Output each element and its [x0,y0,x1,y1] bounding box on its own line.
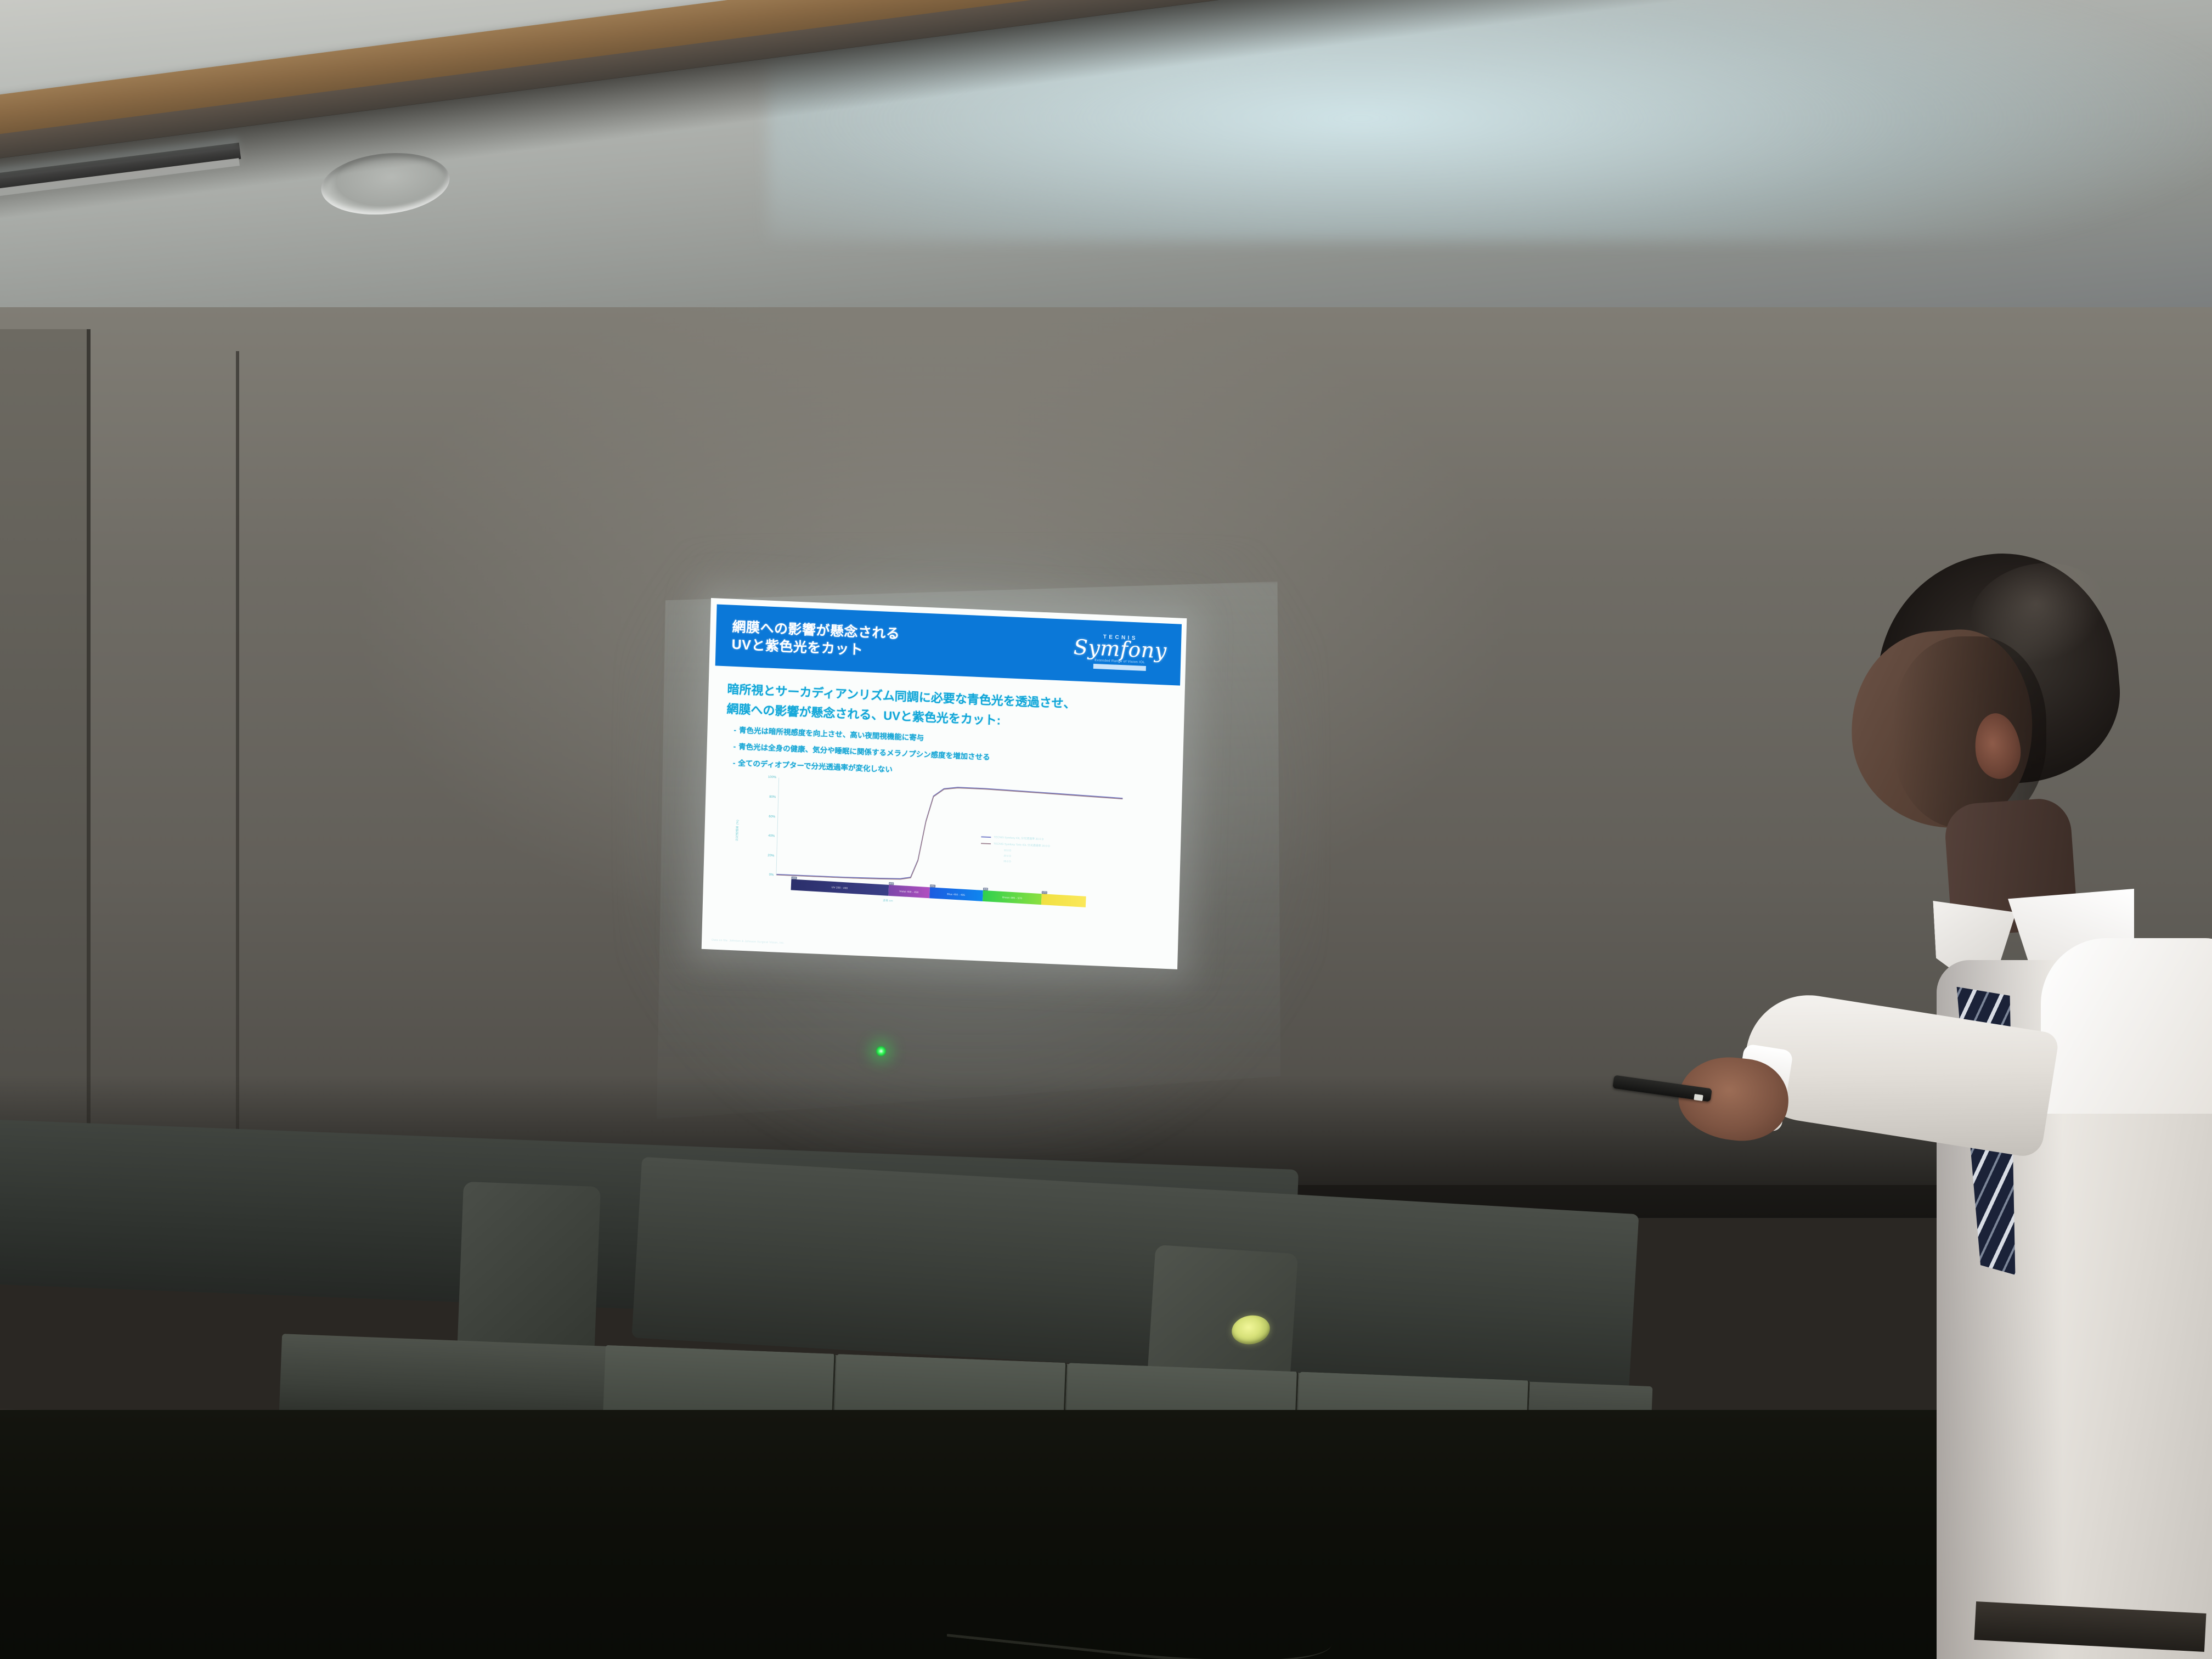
legend-label: 20.0 D [1003,855,1011,858]
photo-scene: 網膜への影響が懸念される UVと紫色光をカット TECNIS Symfony E… [0,0,2212,1659]
spectrum-band: 200UV 200 - 400 [791,879,889,896]
logo-symfony-text: Symfony [1073,636,1167,661]
laser-pointer-dot [876,1046,887,1057]
spectrum-band: 450Blue 450 - 495 [929,888,983,902]
symfony-logo: TECNIS Symfony Extended Range of Vision … [1073,633,1181,672]
presenter-shoulder [2041,938,2212,1114]
chart-y-tick: 100% [768,776,777,780]
wall-panel-left [0,329,91,1152]
chart-y-tick: 80% [769,795,776,799]
slide-title: 網膜への影響が懸念される UVと紫色光をカット [715,617,900,660]
chart-y-tick: 60% [769,815,775,819]
chart-y-axis: 100%80%60%40%20%0% [751,777,778,876]
chart-y-tick: 20% [768,854,774,858]
chart-legend: TECNIS Symfony IOL 分光透過率 20.0 DTECNIS Sy… [980,835,1118,871]
chart-y-axis-title: 分光透過率 (%) [735,795,741,866]
spectrum-tick: 200 [791,877,797,880]
legend-swatch [981,837,991,838]
logo-bar [1093,664,1146,671]
legend-label: 10.0 D [1004,849,1012,853]
chart-y-tick: 0% [769,873,774,877]
laser-pointer-button [1694,1094,1703,1101]
bullet-dash-icon: - [733,742,736,751]
transmittance-chart: 分光透過率 (%) 100%80%60%40%20%0% TECNIS Symf… [736,776,1123,908]
legend-label: 30.0 D [1003,860,1011,864]
bullet-dash-icon: - [733,759,736,767]
chart-series-line [776,781,1122,890]
spectrum-tick: 450 [930,885,935,888]
projected-slide: 網膜への影響が懸念される UVと紫色光をカット TECNIS Symfony E… [702,598,1187,969]
spectrum-band-label: Green 495 - 570 [1002,896,1023,900]
chart-series-line [776,780,1122,889]
legend-label: TECNIS Symfony Toric IOL 分光透過率 20.0 D [994,842,1050,848]
legend-swatch [981,843,991,844]
spectrum-band-label: UV 200 - 400 [832,886,848,890]
spectrum-band: 400Violet 400 - 450 [888,885,930,898]
spectrum-band-label: Violet 400 - 450 [899,890,918,894]
spectrum-tick: 570 [1042,891,1047,895]
slide-body: 暗所視とサーカディアンリズム同調に必要な青色光を透過させ、 網膜への影響が懸念さ… [703,665,1185,910]
chart-y-tick: 40% [768,834,775,838]
presenter [1810,554,2212,1659]
spectrum-band: 570 [1041,894,1086,908]
spectrum-caption: 波長 nm [883,899,893,903]
spectrum-tick: 495 [983,888,989,891]
bullet-dash-icon: - [733,726,736,734]
chart-curves [776,778,1122,890]
wall-seam [236,351,239,1141]
chart-plot-area [776,778,1122,890]
spectrum-tick: 400 [889,882,894,885]
spectrum-band: 495Green 495 - 570 [983,890,1042,905]
spectrum-band-label: Blue 450 - 495 [947,893,965,896]
